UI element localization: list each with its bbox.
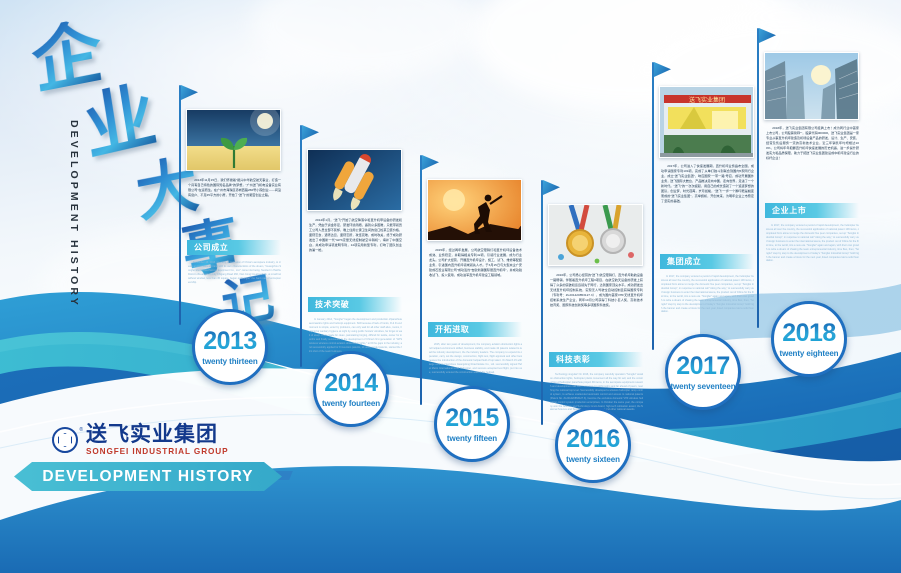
milestone-body-cn-2013: 2013年11月15日，我们怀揣着"振兴中华航空航天事业，打造一个具有自己特色的…	[188, 178, 281, 236]
milestone-body-en-2017: In 2017, the company entered a period of…	[661, 275, 754, 343]
company-name-cn: 送飞实业集团	[86, 424, 228, 445]
milestone-tag-2017: 集团成立	[660, 254, 754, 269]
milestone-body-cn-2014: 2014年1月，"送飞"开始了航空降落伞和直升机甲设备的研发和生产，凭由于资金筹…	[309, 218, 402, 293]
headline-subtitle-vertical: DEVELOPMENT HISTORY	[68, 120, 80, 308]
year-value-2015: 2015	[445, 406, 499, 431]
timeline-stem	[420, 155, 422, 405]
milestone-tag-2014: 技术突破	[308, 297, 402, 312]
year-marker-2016[interactable]: 2016 twenty sixteen	[555, 407, 631, 483]
milestone-tag-2018: 企业上市	[765, 203, 859, 218]
svg-text:送飞实业集团: 送飞实业集团	[689, 96, 725, 104]
timeline-stem	[300, 125, 302, 367]
milestone-tag-wrap-2015: 开拓进取	[428, 322, 522, 337]
milestone-thumbnail-2018	[764, 52, 859, 120]
development-history-banner: DEVELOPMENT HISTORY	[14, 462, 282, 491]
year-words-2016: twenty sixteen	[566, 455, 620, 464]
milestone-thumbnail-2014	[307, 149, 402, 211]
year-words-2018: twenty eighteen	[780, 349, 839, 358]
milestone-tag-wrap-2016: 科技表彰	[549, 352, 643, 367]
milestone-tag-wrap-2018: 企业上市	[765, 203, 859, 218]
milestone-thumbnail-2016	[548, 204, 643, 266]
year-marker-2017[interactable]: 2017 twenty seventeen	[665, 334, 741, 410]
milestone-thumbnail-2013	[186, 109, 281, 171]
year-marker-2013[interactable]: 2013 twenty thirteen	[192, 309, 268, 385]
year-value-2016: 2016	[566, 427, 620, 452]
company-logo-block: ® 送飞实业集团 SONGFEI INDUSTRIAL GROUP DEVELO…	[52, 424, 282, 490]
year-marker-2014[interactable]: 2014 twenty fourteen	[313, 351, 389, 427]
year-words-2017: twenty seventeen	[670, 382, 735, 391]
headline-char-2: 业	[79, 78, 160, 165]
milestone-tag-2015: 开拓进取	[428, 322, 522, 337]
year-value-2018: 2018	[782, 321, 836, 346]
milestone-body-cn-2016: 2016年，公司悉心经营的"送飞"航空障碍灯、直升机坪助航设备一路畅销，伴随着直…	[550, 273, 643, 348]
logo-row: ® 送飞实业集团 SONGFEI INDUSTRIAL GROUP	[52, 424, 282, 456]
year-words-2015: twenty fifteen	[447, 434, 497, 443]
company-emblem-icon: ®	[52, 427, 78, 453]
milestone-tag-2016: 科技表彰	[549, 352, 643, 367]
milestone-thumbnail-2015	[427, 179, 522, 241]
milestone-body-cn-2018: 2018年，送飞实业集团有限公司挂牌上市！成为同行业中首家上市公司，公司股票简称…	[766, 126, 859, 198]
timeline-stem	[652, 62, 654, 350]
year-words-2014: twenty fourteen	[322, 399, 380, 408]
banner-label: DEVELOPMENT HISTORY	[42, 468, 253, 486]
timeline-stem	[541, 180, 543, 425]
milestone-tag-wrap-2013: 公司成立	[187, 240, 281, 255]
company-name-en: SONGFEI INDUSTRIAL GROUP	[86, 447, 228, 456]
timeline-stem	[757, 28, 759, 328]
year-marker-2018[interactable]: 2018 twenty eighteen	[771, 301, 847, 377]
registered-mark: ®	[79, 427, 83, 433]
milestone-tag-2013: 公司成立	[187, 240, 281, 255]
year-value-2014: 2014	[324, 371, 378, 396]
milestone-thumbnail-2017: 送飞实业集团	[659, 86, 754, 158]
year-marker-2015[interactable]: 2015 twenty fifteen	[434, 386, 510, 462]
year-words-2013: twenty thirteen	[202, 357, 257, 366]
poster-headline: 企 业 大 事 记 DEVELOPMENT HISTORY	[10, 8, 330, 328]
year-value-2017: 2017	[676, 354, 730, 379]
timeline-stem	[179, 85, 181, 325]
milestone-body-cn-2015: 2015年，经过两年发展，公司航空障碍灯和直升机坪设备技术成熟、业务稳定，并取得…	[429, 248, 522, 318]
year-value-2013: 2013	[203, 329, 257, 354]
milestone-body-en-2018: In 2017, the company entered a period of…	[766, 224, 859, 294]
milestone-tag-wrap-2017: 集团成立	[660, 254, 754, 269]
milestone-body-cn-2017: 2017年，公司进入了快速发展期，直升机坪业务遍布全国，成功申请国家专利109项…	[661, 164, 754, 249]
poster-canvas: 企 业 大 事 记 DEVELOPMENT HISTORY 2013年11月15…	[0, 0, 901, 573]
milestone-tag-wrap-2014: 技术突破	[308, 297, 402, 312]
